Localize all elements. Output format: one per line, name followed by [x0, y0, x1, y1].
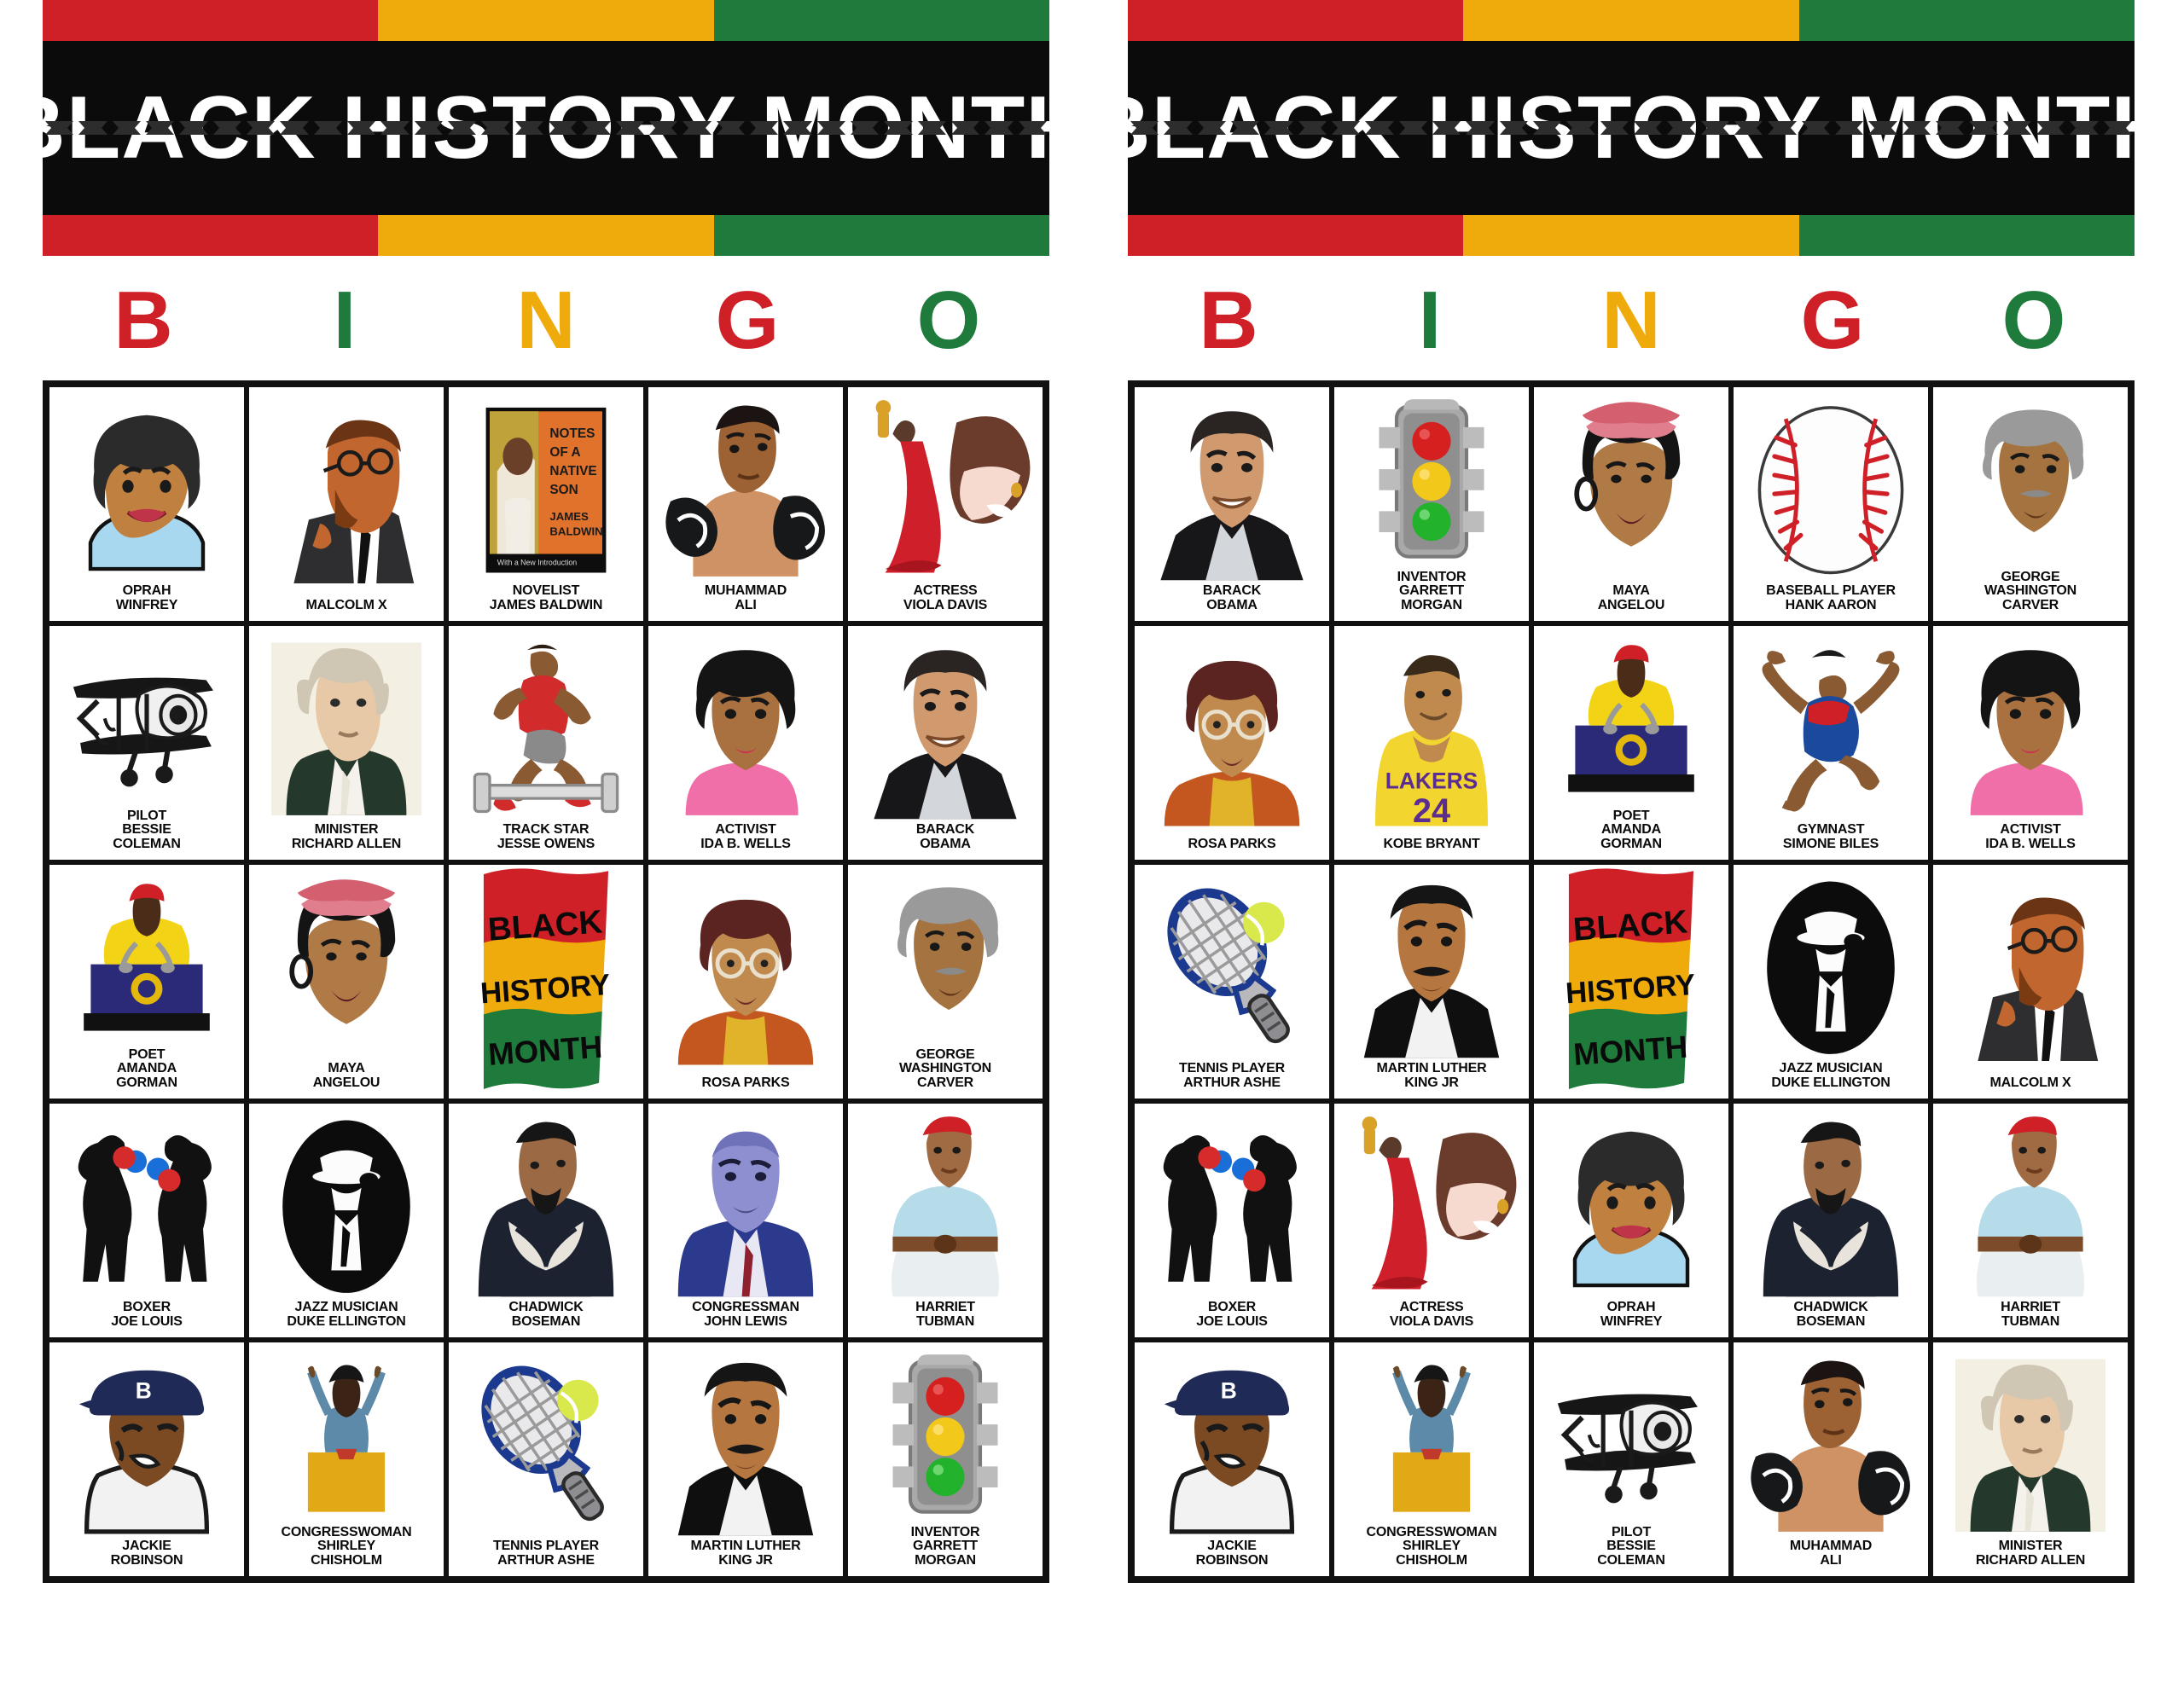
bingo-cell[interactable]: ROSA PARKS: [1132, 623, 1332, 862]
cell-label-line: KOBE BRYANT: [1338, 838, 1525, 851]
cell-label: GEORGEWASHINGTONCARVER: [851, 1048, 1039, 1090]
free-space-graphic: BLACK HISTORY MONTH: [1534, 865, 1728, 1099]
bingo-cell[interactable]: ACTRESSVIOLA DAVIS: [845, 385, 1045, 623]
cell-label: MINISTERRICHARD ALLEN: [253, 823, 440, 851]
oprah-winfrey-portrait-icon: [1537, 1109, 1725, 1301]
cell-label-line: BARACK: [851, 823, 1039, 837]
bingo-cell[interactable]: POETAMANDAGORMAN: [1531, 623, 1731, 862]
muhammad-ali-boxer-portrait-icon: [652, 392, 839, 584]
bingo-cell[interactable]: MARTIN LUTHERKING JR: [1332, 862, 1531, 1101]
bingo-cell[interactable]: ACTRESSVIOLA DAVIS: [1332, 1101, 1531, 1340]
cell-label-line: MARTIN LUTHER: [652, 1539, 839, 1553]
svg-text:JAMES: JAMES: [549, 510, 589, 523]
svg-text:B: B: [136, 1378, 152, 1404]
cell-label: TENNIS PLAYERARTHUR ASHE: [452, 1539, 640, 1568]
bingo-cell[interactable]: LAKERS 24 KOBE BRYANT: [1332, 623, 1531, 862]
cell-label-line: AMANDA: [1537, 823, 1725, 837]
bingo-cell[interactable]: MUHAMMADALI: [646, 385, 845, 623]
cell-label-line: JAMES BALDWIN: [452, 599, 640, 612]
gymnast-leaping-icon: [1737, 631, 1925, 823]
biplane-airplane-icon: [1537, 1348, 1725, 1526]
bingo-letters-row: BINGO: [43, 256, 1049, 380]
cell-label-line: KING JR: [1338, 1076, 1525, 1090]
cell-label: JACKIEROBINSON: [1138, 1539, 1326, 1568]
cell-label-line: CONGRESSMAN: [652, 1301, 839, 1314]
harriet-tubman-illustration-icon: [1937, 1109, 2124, 1301]
svg-text:NATIVE: NATIVE: [549, 464, 596, 478]
cell-label-line: TENNIS PLAYER: [452, 1539, 640, 1553]
tennis-racket-and-ball-icon: [1138, 870, 1326, 1062]
cell-label-line: IDA B. WELLS: [652, 838, 839, 851]
svg-text:BALDWIN: BALDWIN: [549, 525, 602, 537]
bingo-cell[interactable]: BASEBALL PLAYERHANK AARON: [1731, 385, 1931, 623]
card-2: BLACK HISTORY MONTH BINGO BARACKOBAMA: [1128, 0, 2135, 1583]
bingo-letter-o: O: [848, 280, 1049, 362]
cell-label-line: HARRIET: [1937, 1301, 2124, 1314]
card-1: BLACK HISTORY MONTH BINGO OPRAHWINFREY: [43, 0, 1049, 1583]
bingo-cell[interactable]: B JACKIEROBINSON: [1132, 1340, 1332, 1579]
harriet-tubman-illustration-icon: [851, 1109, 1039, 1301]
bingo-cell[interactable]: CHADWICKBOSEMAN: [446, 1101, 646, 1340]
cell-label-line: MUHAMMAD: [1737, 1539, 1925, 1553]
cell-label-line: BOSEMAN: [1737, 1315, 1925, 1329]
cell-label-line: CARVER: [851, 1076, 1039, 1090]
bingo-letter-b: B: [1128, 280, 1329, 362]
bingo-cell[interactable]: INVENTORGARRETTMORGAN: [845, 1340, 1045, 1579]
cell-label-line: ACTRESS: [851, 584, 1039, 598]
viola-davis-actress-illustration-icon: [851, 392, 1039, 584]
bingo-cell[interactable]: MINISTERRICHARD ALLEN: [1931, 1340, 2130, 1579]
cell-label-line: TUBMAN: [851, 1315, 1039, 1329]
cell-label-line: JACKIE: [1138, 1539, 1326, 1553]
bingo-letter-i: I: [1329, 280, 1531, 362]
svg-text:B: B: [1221, 1378, 1237, 1404]
cell-label-line: GYMNAST: [1737, 823, 1925, 837]
bingo-sheet: BLACK HISTORY MONTH BINGO OPRAHWINFREY: [0, 0, 2184, 1583]
cell-label: BOXERJOE LOUIS: [53, 1301, 241, 1329]
cell-label: CONGRESSWOMANSHIRLEYCHISHOLM: [253, 1526, 440, 1568]
hurdler-track-runner-icon: [452, 631, 640, 823]
cell-label: OPRAHWINFREY: [53, 584, 241, 612]
cell-label-line: CONGRESSWOMAN: [1338, 1526, 1525, 1539]
cell-label: INVENTORGARRETTMORGAN: [1338, 571, 1525, 612]
cell-label-line: TUBMAN: [1937, 1315, 2124, 1329]
cell-label-line: GARRETT: [851, 1539, 1039, 1553]
cell-label: ACTRESSVIOLA DAVIS: [1338, 1301, 1525, 1329]
cell-label: JACKIEROBINSON: [53, 1539, 241, 1568]
svg-text:LAKERS: LAKERS: [1385, 768, 1478, 793]
cell-label: PILOTBESSIECOLEMAN: [53, 809, 241, 851]
oprah-winfrey-portrait-icon: [53, 392, 241, 584]
cell-label-line: JOHN LEWIS: [652, 1315, 839, 1329]
amanda-gorman-at-podium-icon: [1537, 631, 1725, 809]
bingo-grid[interactable]: OPRAHWINFREY MALCOLM X NOTES OF A NATIVE…: [43, 380, 1049, 1583]
cell-label-line: BESSIE: [53, 823, 241, 837]
ida-b-wells-portrait-icon: [652, 631, 839, 823]
cell-label: MAYAANGELOU: [1537, 584, 1725, 612]
black-history-month-banner: BLACK HISTORY MONTH: [1128, 0, 2135, 256]
muhammad-ali-boxer-portrait-icon: [1737, 1348, 1925, 1539]
cell-label-line: SIMONE BILES: [1737, 838, 1925, 851]
biplane-airplane-icon: [53, 631, 241, 809]
jackie-robinson-baseball-cap-portrait-icon: B: [53, 1348, 241, 1539]
cell-label: BARACKOBAMA: [1138, 584, 1326, 612]
cell-label-line: WINFREY: [53, 599, 241, 612]
barack-obama-portrait-icon: [851, 631, 1039, 823]
bingo-cell[interactable]: POETAMANDAGORMAN: [47, 862, 247, 1101]
cell-label: MINISTERRICHARD ALLEN: [1937, 1539, 2124, 1568]
cell-label-line: BASEBALL PLAYER: [1737, 584, 1925, 598]
cell-label-line: MINISTER: [1937, 1539, 2124, 1553]
cell-label-line: ROSA PARKS: [1138, 838, 1326, 851]
cell-label: NOVELISTJAMES BALDWIN: [452, 584, 640, 612]
martin-luther-king-jr-portrait-icon: [1338, 870, 1525, 1062]
bingo-cell[interactable]: GEORGEWASHINGTONCARVER: [1931, 385, 2130, 623]
richard-allen-portrait-icon: [253, 631, 440, 823]
bingo-cell[interactable]: CONGRESSWOMANSHIRLEYCHISHOLM: [1332, 1340, 1531, 1579]
bingo-cell[interactable]: JAZZ MUSICIANDUKE ELLINGTON: [1731, 862, 1931, 1101]
cell-label-line: OBAMA: [1138, 599, 1326, 612]
cell-label: BOXERJOE LOUIS: [1138, 1301, 1326, 1329]
kente-stripe-top: [1128, 0, 2135, 41]
maya-angelou-portrait-icon: [253, 870, 440, 1062]
cell-label-line: ARTHUR ASHE: [452, 1554, 640, 1568]
bingo-cell[interactable]: GYMNASTSIMONE BILES: [1731, 623, 1931, 862]
cell-label-line: ARTHUR ASHE: [1138, 1076, 1326, 1090]
cell-label-line: MALCOLM X: [1937, 1076, 2124, 1090]
cell-label: ACTIVISTIDA B. WELLS: [652, 823, 839, 851]
cell-label-line: JAZZ MUSICIAN: [1737, 1062, 1925, 1075]
cell-label-line: MINISTER: [253, 823, 440, 837]
cell-label-line: COLEMAN: [1537, 1554, 1725, 1568]
cell-label: MALCOLM X: [253, 599, 440, 612]
cell-label-line: MUHAMMAD: [652, 584, 839, 598]
rosa-parks-portrait-icon: [1138, 631, 1326, 838]
cell-label: GEORGEWASHINGTONCARVER: [1937, 571, 2124, 612]
cell-label-line: BOXER: [1138, 1301, 1326, 1314]
bingo-cell[interactable]: MALCOLM X: [247, 385, 446, 623]
cell-label-line: JACKIE: [53, 1539, 241, 1553]
cell-label-line: IDA B. WELLS: [1937, 838, 2124, 851]
bingo-cell[interactable]: BOXERJOE LOUIS: [47, 1101, 247, 1340]
bingo-cell[interactable]: NOTES OF A NATIVE SON JAMES BALDWIN With…: [446, 385, 646, 623]
cell-label-line: HARRIET: [851, 1301, 1039, 1314]
cell-label-line: KING JR: [652, 1554, 839, 1568]
rosa-parks-portrait-icon: [652, 870, 839, 1076]
bingo-cell[interactable]: ACTIVISTIDA B. WELLS: [646, 623, 845, 862]
cell-label: POETAMANDAGORMAN: [53, 1048, 241, 1090]
cell-label: CHADWICKBOSEMAN: [1737, 1301, 1925, 1329]
cell-label-line: INVENTOR: [851, 1526, 1039, 1539]
bingo-cell[interactable]: TENNIS PLAYERARTHUR ASHE: [1132, 862, 1332, 1101]
ida-b-wells-portrait-icon: [1937, 631, 2124, 823]
cell-label-line: ALI: [1737, 1554, 1925, 1568]
chadwick-boseman-portrait-icon: [1737, 1109, 1925, 1301]
bingo-cell[interactable]: MAYAANGELOU: [1531, 385, 1731, 623]
cell-label-line: BOXER: [53, 1301, 241, 1314]
cell-label: JAZZ MUSICIANDUKE ELLINGTON: [1737, 1062, 1925, 1090]
svg-text:OF A: OF A: [549, 445, 580, 460]
john-lewis-portrait-icon: [652, 1109, 839, 1301]
cell-label-line: OPRAH: [53, 584, 241, 598]
bingo-letter-n: N: [1531, 280, 1732, 362]
bingo-cell[interactable]: ROSA PARKS: [646, 862, 845, 1101]
cell-label-line: RICHARD ALLEN: [1937, 1554, 2124, 1568]
cell-label-line: CHADWICK: [1737, 1301, 1925, 1314]
cell-label: MALCOLM X: [1937, 1076, 2124, 1090]
cell-label: JAZZ MUSICIANDUKE ELLINGTON: [253, 1301, 440, 1329]
cell-label-line: CHISHOLM: [1338, 1554, 1525, 1568]
cell-label: POETAMANDAGORMAN: [1537, 809, 1725, 851]
cell-label: BARACKOBAMA: [851, 823, 1039, 851]
cell-label-line: NOVELIST: [452, 584, 640, 598]
bingo-cell[interactable]: CONGRESSWOMANSHIRLEYCHISHOLM: [247, 1340, 446, 1579]
cell-label-line: RICHARD ALLEN: [253, 838, 440, 851]
bingo-cell[interactable]: ACTIVISTIDA B. WELLS: [1931, 623, 2130, 862]
cell-label: HARRIETTUBMAN: [1937, 1301, 2124, 1329]
jackie-robinson-baseball-cap-portrait-icon: B: [1138, 1348, 1326, 1539]
jazz-musician-top-hat-oval-icon: [1737, 870, 1925, 1062]
bingo-cell[interactable]: TRACK STARJESSE OWENS: [446, 623, 646, 862]
chadwick-boseman-portrait-icon: [452, 1109, 640, 1301]
cell-label-line: ACTRESS: [1338, 1301, 1525, 1314]
svg-text:NOTES: NOTES: [549, 426, 595, 441]
cell-label: MAYAANGELOU: [253, 1062, 440, 1090]
cell-label-line: BOSEMAN: [452, 1315, 640, 1329]
free-space-graphic: BLACK HISTORY MONTH: [449, 865, 643, 1099]
bingo-cell[interactable]: B JACKIEROBINSON: [47, 1340, 247, 1579]
cell-label: PILOTBESSIECOLEMAN: [1537, 1526, 1725, 1568]
cell-label: OPRAHWINFREY: [1537, 1301, 1725, 1329]
bingo-cell[interactable]: BLACK HISTORY MONTH: [446, 862, 646, 1101]
bingo-letter-g: G: [1732, 280, 1933, 362]
cell-label-line: JOE LOUIS: [53, 1315, 241, 1329]
bingo-letter-i: I: [244, 280, 445, 362]
cell-label-line: CHADWICK: [452, 1301, 640, 1314]
cell-label-line: WINFREY: [1537, 1315, 1725, 1329]
cell-label-line: CONGRESSWOMAN: [253, 1526, 440, 1539]
bingo-cell[interactable]: CONGRESSMANJOHN LEWIS: [646, 1101, 845, 1340]
cell-label-line: MALCOLM X: [253, 599, 440, 612]
george-washington-carver-portrait-icon: [851, 870, 1039, 1048]
george-washington-carver-portrait-icon: [1937, 392, 2124, 571]
cell-label: ACTIVISTIDA B. WELLS: [1937, 823, 2124, 851]
cell-label: TRACK STARJESSE OWENS: [452, 823, 640, 851]
cell-label-line: MAYA: [253, 1062, 440, 1075]
cell-label-line: GORMAN: [53, 1076, 241, 1090]
bingo-letter-o: O: [1933, 280, 2135, 362]
notes-of-a-native-son-book-cover-icon: NOTES OF A NATIVE SON JAMES BALDWIN With…: [452, 392, 640, 584]
bingo-letter-b: B: [43, 280, 244, 362]
cell-label: BASEBALL PLAYERHANK AARON: [1737, 584, 1925, 612]
cell-label-line: ANGELOU: [253, 1076, 440, 1090]
cell-label-line: MAYA: [1537, 584, 1725, 598]
bingo-grid[interactable]: BARACKOBAMA INVENTORGARRETTMORGAN MAYAAN…: [1128, 380, 2135, 1583]
svg-text:24: 24: [1413, 792, 1450, 830]
bingo-cell[interactable]: GEORGEWASHINGTONCARVER: [845, 862, 1045, 1101]
svg-text:SON: SON: [549, 483, 578, 497]
cell-label-line: ROBINSON: [53, 1554, 241, 1568]
cell-label-line: DUKE ELLINGTON: [253, 1315, 440, 1329]
martin-luther-king-jr-portrait-icon: [652, 1348, 839, 1539]
cell-label-line: POET: [1537, 809, 1725, 823]
tennis-racket-and-ball-icon: [452, 1348, 640, 1539]
traffic-light-icon: [1338, 392, 1525, 571]
cell-label-line: PILOT: [53, 809, 241, 823]
jazz-musician-top-hat-oval-icon: [253, 1109, 440, 1301]
cell-label-line: ACTIVIST: [652, 823, 839, 837]
bingo-cell[interactable]: BARACKOBAMA: [845, 623, 1045, 862]
cell-label-line: POET: [53, 1048, 241, 1062]
bingo-cell[interactable]: MINISTERRICHARD ALLEN: [247, 623, 446, 862]
kente-stripe-bottom: [43, 215, 1049, 256]
two-boxers-silhouette-icon: [53, 1109, 241, 1301]
cell-label-line: MARTIN LUTHER: [1338, 1062, 1525, 1075]
cell-label: CONGRESSMANJOHN LEWIS: [652, 1301, 839, 1329]
cell-label-line: VIOLA DAVIS: [851, 599, 1039, 612]
bingo-cell[interactable]: INVENTORGARRETTMORGAN: [1332, 385, 1531, 623]
cell-label: CHADWICKBOSEMAN: [452, 1301, 640, 1329]
shirley-chisholm-at-podium-icon: [253, 1348, 440, 1526]
cell-label-line: JOE LOUIS: [1138, 1315, 1326, 1329]
cell-label-line: CARVER: [1937, 599, 2124, 612]
cell-label-line: JESSE OWENS: [452, 838, 640, 851]
bingo-cell[interactable]: TENNIS PLAYERARTHUR ASHE: [446, 1340, 646, 1579]
bingo-cell[interactable]: PILOTBESSIECOLEMAN: [1531, 1340, 1731, 1579]
cell-label-line: ANGELOU: [1537, 599, 1725, 612]
cell-label-line: ROSA PARKS: [652, 1076, 839, 1090]
viola-davis-actress-illustration-icon: [1338, 1109, 1525, 1301]
cell-label-line: ALI: [652, 599, 839, 612]
kente-stripe-top: [43, 0, 1049, 41]
bingo-cell[interactable]: BLACK HISTORY MONTH: [1531, 862, 1731, 1101]
cell-label-line: GEORGE: [851, 1048, 1039, 1062]
bingo-cell[interactable]: MAYAANGELOU: [247, 862, 446, 1101]
cell-label-line: JAZZ MUSICIAN: [253, 1301, 440, 1314]
bingo-cell[interactable]: MALCOLM X: [1931, 862, 2130, 1101]
bingo-cell[interactable]: BARACKOBAMA: [1132, 385, 1332, 623]
cell-label: ROSA PARKS: [1138, 838, 1326, 851]
cell-label: MUHAMMADALI: [652, 584, 839, 612]
cell-label-line: AMANDA: [53, 1062, 241, 1075]
bingo-cell[interactable]: OPRAHWINFREY: [1531, 1101, 1731, 1340]
cell-label: MARTIN LUTHERKING JR: [652, 1539, 839, 1568]
cell-label: ACTRESSVIOLA DAVIS: [851, 584, 1039, 612]
cell-label-line: ACTIVIST: [1937, 823, 2124, 837]
cell-label-line: VIOLA DAVIS: [1338, 1315, 1525, 1329]
malcolm-x-portrait-icon: [253, 392, 440, 599]
traffic-light-icon: [851, 1348, 1039, 1526]
cell-label: GYMNASTSIMONE BILES: [1737, 823, 1925, 851]
bingo-letter-g: G: [647, 280, 848, 362]
bingo-cell[interactable]: MARTIN LUTHERKING JR: [646, 1340, 845, 1579]
cell-label-line: WASHINGTON: [851, 1062, 1039, 1075]
bingo-cell[interactable]: JAZZ MUSICIANDUKE ELLINGTON: [247, 1101, 446, 1340]
bingo-cell[interactable]: CHADWICKBOSEMAN: [1731, 1101, 1931, 1340]
amanda-gorman-at-podium-icon: [53, 870, 241, 1048]
black-history-month-banner: BLACK HISTORY MONTH: [43, 0, 1049, 256]
cell-label-line: WASHINGTON: [1937, 584, 2124, 598]
bingo-letters-row: BINGO: [1128, 256, 2135, 380]
cell-label-line: GORMAN: [1537, 838, 1725, 851]
cell-label: HARRIETTUBMAN: [851, 1301, 1039, 1329]
baseball-icon: [1737, 392, 1925, 584]
barack-obama-portrait-icon: [1138, 392, 1326, 584]
cell-label-line: GARRETT: [1338, 584, 1525, 598]
kobe-bryant-lakers-jersey-icon: LAKERS 24: [1338, 631, 1525, 838]
cell-label-line: DUKE ELLINGTON: [1737, 1076, 1925, 1090]
cell-label-line: GEORGE: [1937, 571, 2124, 584]
cell-label-line: CHISHOLM: [253, 1554, 440, 1568]
bingo-letter-n: N: [445, 280, 647, 362]
bingo-cell[interactable]: MUHAMMADALI: [1731, 1340, 1931, 1579]
cell-label-line: HANK AARON: [1737, 599, 1925, 612]
kente-stripe-bottom: [1128, 215, 2135, 256]
malcolm-x-portrait-icon: [1937, 870, 2124, 1076]
maya-angelou-portrait-icon: [1537, 392, 1725, 584]
bingo-cell[interactable]: HARRIETTUBMAN: [845, 1101, 1045, 1340]
cell-label-line: INVENTOR: [1338, 571, 1525, 584]
two-boxers-silhouette-icon: [1138, 1109, 1326, 1301]
cell-label: MUHAMMADALI: [1737, 1539, 1925, 1568]
cell-label: INVENTORGARRETTMORGAN: [851, 1526, 1039, 1568]
cell-label-line: ROBINSON: [1138, 1554, 1326, 1568]
richard-allen-portrait-icon: [1937, 1348, 2124, 1539]
svg-text:With a New Introduction: With a New Introduction: [497, 559, 577, 567]
cell-label-line: OPRAH: [1537, 1301, 1725, 1314]
bingo-cell[interactable]: BOXERJOE LOUIS: [1132, 1101, 1332, 1340]
cell-label-line: COLEMAN: [53, 838, 241, 851]
cell-label: MARTIN LUTHERKING JR: [1338, 1062, 1525, 1090]
shirley-chisholm-at-podium-icon: [1338, 1348, 1525, 1526]
cell-label: KOBE BRYANT: [1338, 838, 1525, 851]
cell-label-line: PILOT: [1537, 1526, 1725, 1539]
cell-label-line: SHIRLEY: [1338, 1539, 1525, 1553]
cell-label-line: OBAMA: [851, 838, 1039, 851]
cell-label: TENNIS PLAYERARTHUR ASHE: [1138, 1062, 1326, 1090]
cell-label-line: SHIRLEY: [253, 1539, 440, 1553]
cell-label-line: TENNIS PLAYER: [1138, 1062, 1326, 1075]
cell-label-line: MORGAN: [851, 1554, 1039, 1568]
cell-label: ROSA PARKS: [652, 1076, 839, 1090]
cell-label-line: BESSIE: [1537, 1539, 1725, 1553]
cell-label: CONGRESSWOMANSHIRLEYCHISHOLM: [1338, 1526, 1525, 1568]
bingo-cell[interactable]: OPRAHWINFREY: [47, 385, 247, 623]
cell-label-line: TRACK STAR: [452, 823, 640, 837]
cell-label-line: MORGAN: [1338, 599, 1525, 612]
cell-label-line: BARACK: [1138, 584, 1326, 598]
bingo-cell[interactable]: PILOTBESSIECOLEMAN: [47, 623, 247, 862]
bingo-cell[interactable]: HARRIETTUBMAN: [1931, 1101, 2130, 1340]
